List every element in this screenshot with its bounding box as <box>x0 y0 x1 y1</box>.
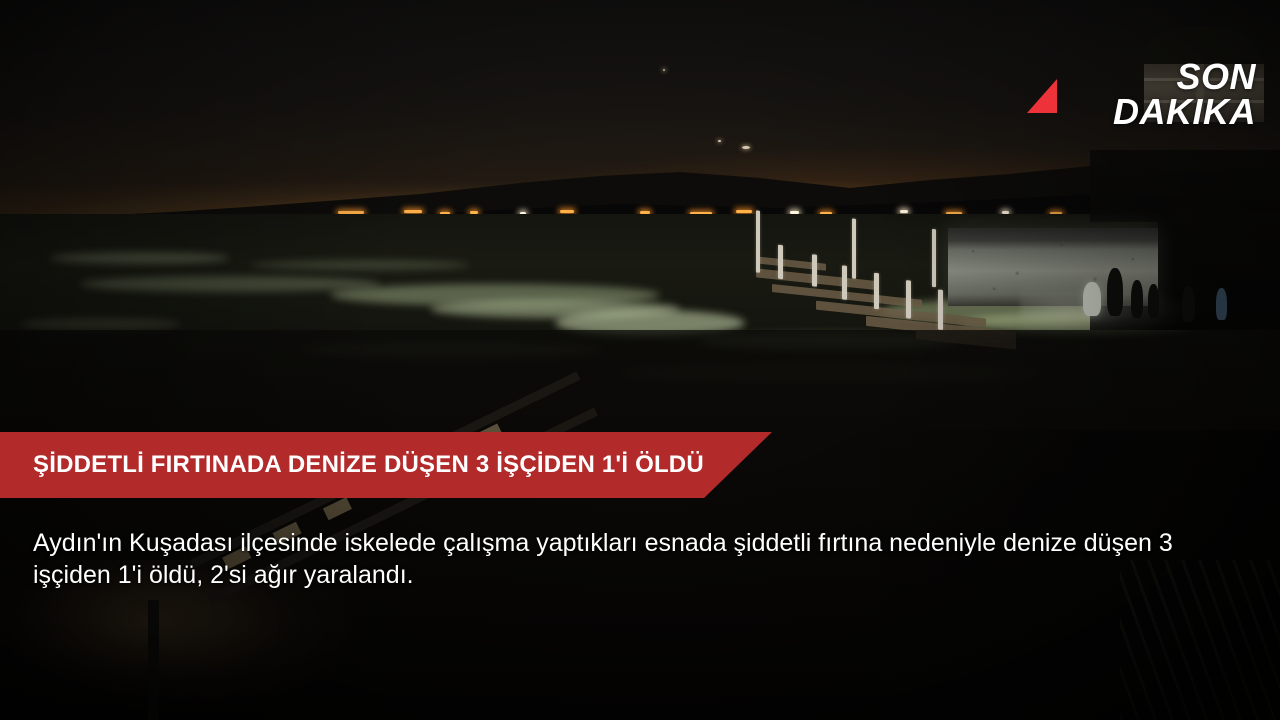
star-light <box>663 69 665 71</box>
wave-crest <box>250 260 470 270</box>
star-light <box>718 140 721 142</box>
person-silhouette <box>1182 286 1195 322</box>
wave-crest <box>20 318 180 330</box>
news-video-still: SON DAKIKA ŞİDDETLİ FIRTINADA DENİZE DÜŞ… <box>0 0 1280 720</box>
person-silhouette <box>1216 288 1227 320</box>
logo-line-1: SON <box>1113 60 1256 95</box>
logo-line-2: DAKIKA <box>1113 95 1256 130</box>
person-silhouette <box>1148 284 1159 318</box>
foreground-post <box>148 600 159 720</box>
caption-text: Aydın'ın Kuşadası ilçesinde iskelede çal… <box>33 527 1243 591</box>
red-triangle-icon <box>1027 79 1057 113</box>
breaking-news-logo: SON DAKIKA <box>1027 60 1256 129</box>
person-silhouette <box>1107 268 1123 316</box>
person-silhouette <box>1083 282 1101 316</box>
wave-crest <box>80 276 380 292</box>
star-light <box>742 146 750 149</box>
breaking-news-label: SON DAKIKA <box>1113 60 1256 129</box>
wave-crest <box>50 252 230 264</box>
headline-banner: ŞİDDETLİ FIRTINADA DENİZE DÜŞEN 3 İŞÇİDE… <box>0 432 772 498</box>
person-silhouette <box>1131 280 1143 318</box>
headline-text: ŞİDDETLİ FIRTINADA DENİZE DÜŞEN 3 İŞÇİDE… <box>0 451 704 479</box>
